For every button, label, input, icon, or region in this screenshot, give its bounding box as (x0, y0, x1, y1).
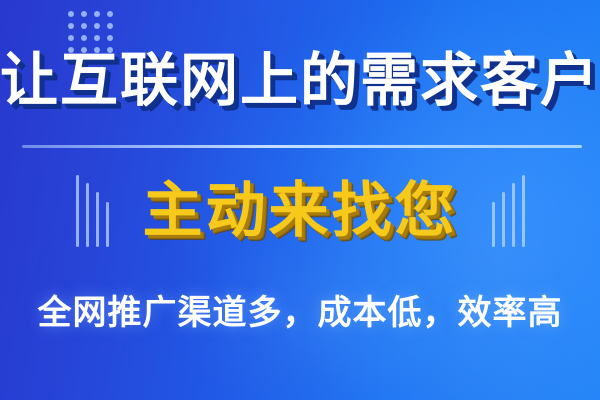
tick-bar (106, 202, 109, 247)
tick-bar (522, 175, 525, 247)
dot-grid-dot (81, 23, 87, 29)
dot-grid-dot (68, 11, 74, 17)
dot-grid-dot (107, 11, 113, 17)
dot-grid-dot (68, 35, 74, 41)
dot-grid-dot (94, 35, 100, 41)
dot-grid-dot (68, 23, 74, 29)
subheadline-text: 主动来找您 (143, 181, 458, 241)
tick-bar (76, 175, 79, 247)
tick-bar (502, 192, 505, 247)
tick-bar (492, 202, 495, 247)
tick-bar (512, 183, 515, 247)
tick-bar (96, 192, 99, 247)
dot-grid-dot (94, 23, 100, 29)
tagline-text: 全网推广渠道多，成本低，效率高 (0, 296, 600, 330)
tick-bars-left-icon (76, 175, 109, 247)
tick-bars-right-icon (492, 175, 525, 247)
subheadline-row: 主动来找您 (0, 168, 600, 254)
dot-grid-dot (81, 11, 87, 17)
tick-bar (86, 183, 89, 247)
dot-grid-dot (107, 23, 113, 29)
headline-text: 让互联网上的需求客户 (0, 52, 600, 110)
dot-grid-dot (107, 35, 113, 41)
divider-line (22, 145, 582, 148)
dot-grid-dot (81, 35, 87, 41)
promo-banner: 让互联网上的需求客户 主动来找您 全网推广渠道多，成本低，效率高 (0, 0, 600, 400)
dot-grid-dot (94, 11, 100, 17)
